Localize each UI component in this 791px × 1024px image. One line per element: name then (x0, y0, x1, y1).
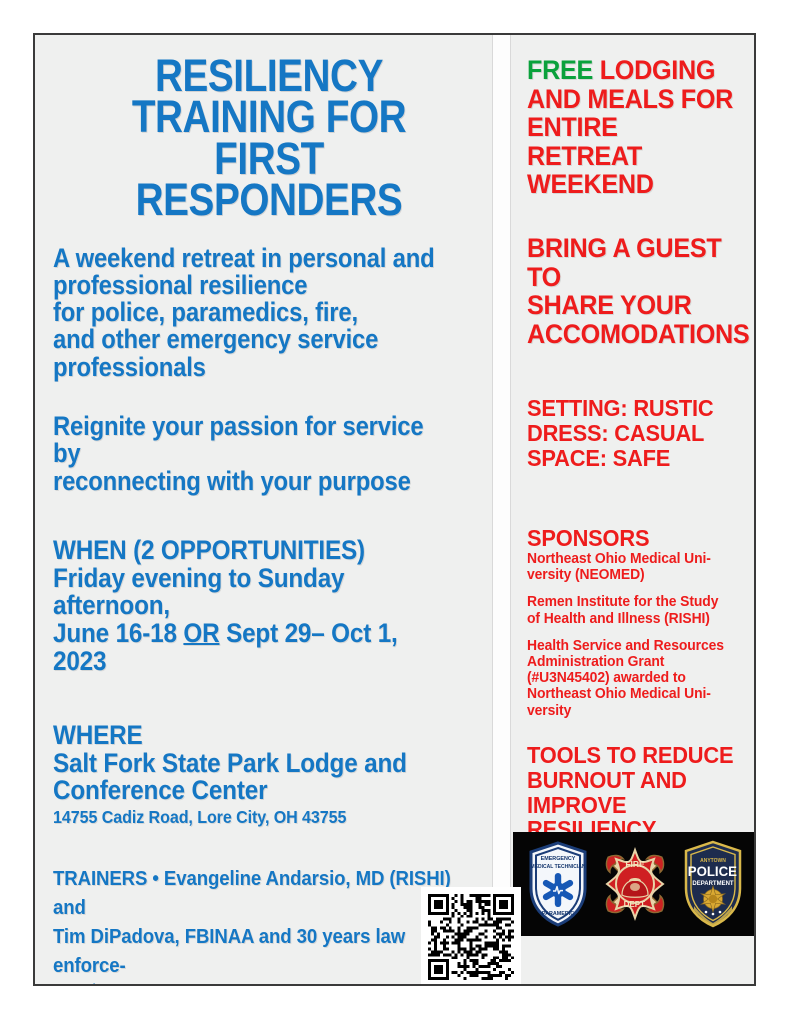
detail-space: SPACE: SAFE (527, 446, 737, 471)
lodging-word: LODGING (593, 55, 715, 85)
venue-address: 14755 Cadiz Road, Lore City, OH 43755 (53, 808, 450, 826)
sponsor-3-line-2: Administration Grant (527, 654, 739, 670)
detail-dress: DRESS: CASUAL (527, 421, 737, 446)
free-offer-block: FREE LODGING AND MEALS FOR ENTIRE RETREA… (527, 56, 737, 199)
column-divider (492, 35, 511, 984)
page-title: RESILIENCY TRAINING FOR FIRST RESPONDERS (83, 35, 455, 221)
when-or: OR (183, 618, 219, 648)
when-line-2: Friday evening to Sunday afternoon, (53, 565, 442, 621)
reignite-paragraph: Reignite your passion for service by rec… (53, 413, 442, 495)
trainers-line-1: TRAINERS • Evangeline Andarsio, MD (RISH… (53, 865, 455, 923)
poster-sheet: RESILIENCY TRAINING FOR FIRST RESPONDERS… (33, 33, 756, 986)
guest-line-3: ACCOMODATIONS (527, 320, 737, 349)
sponsor-3-line-1: Health Service and Resources (527, 638, 739, 654)
sponsor-1-line-1: Northeast Ohio Medical Uni- (527, 551, 739, 567)
bring-guest-block: BRING A GUEST TO SHARE YOUR ACCOMODATION… (527, 234, 737, 348)
svg-text:MEDICAL TECHNICIAN: MEDICAL TECHNICIAN (530, 864, 585, 870)
sponsor-1-line-2: versity (NEOMED) (527, 567, 739, 583)
svg-text:FIRE: FIRE (626, 859, 646, 869)
where-heading: WHERE (53, 722, 442, 750)
reignite-line-1: Reignite your passion for service by (53, 413, 442, 468)
when-dates-first: June 16-18 (53, 618, 183, 648)
sponsor-3-line-3: (#U3N45402) awarded to (527, 670, 739, 686)
trainers-section: TRAINERS • Evangeline Andarsio, MD (RISH… (53, 865, 455, 986)
free-offer-line-1: FREE LODGING (527, 56, 737, 85)
intro-line-3: for police, paramedics, fire, (53, 299, 442, 326)
free-offer-line-4: WEEKEND (527, 170, 737, 199)
intro-line-1: A weekend retreat in personal and (53, 245, 442, 272)
guest-line-1: BRING A GUEST TO (527, 234, 737, 291)
venue-line-1: Salt Fork State Park Lodge and (53, 750, 442, 778)
emt-paramedic-badge-icon: EMERGENCY MEDICAL TECHNICIAN PARAMEDIC (527, 841, 589, 927)
svg-text:POLICE: POLICE (688, 864, 737, 879)
police-department-badge-icon: ANYTOWN POLICE DEPARTMENT (682, 840, 744, 928)
detail-setting: SETTING: RUSTIC (527, 396, 737, 421)
first-responder-badges-image: EMERGENCY MEDICAL TECHNICIAN PARAMEDIC (513, 832, 756, 936)
tools-line-1: TOOLS TO REDUCE (527, 743, 737, 768)
svg-text:PARAMEDIC: PARAMEDIC (542, 911, 574, 917)
title-line-2: TRAINING FOR FIRST (83, 96, 455, 179)
qr-code[interactable] (421, 887, 521, 986)
when-heading: WHEN (2 OPPORTUNITIES) (53, 537, 442, 565)
intro-line-5: professionals (53, 354, 442, 381)
when-section: WHEN (2 OPPORTUNITIES) Friday evening to… (53, 537, 442, 676)
free-word: FREE (527, 55, 593, 85)
tools-block: TOOLS TO REDUCE BURNOUT AND IMPROVE RESI… (527, 743, 737, 842)
title-line-3: RESPONDERS (83, 179, 455, 220)
svg-text:DEPT.: DEPT. (624, 900, 647, 909)
tools-line-2: BURNOUT AND (527, 768, 737, 793)
trainers-line-2: Tim DiPadova, FBINAA and 30 years law en… (53, 923, 455, 981)
title-line-1: RESILIENCY (83, 55, 455, 96)
qr-code-canvas[interactable] (428, 894, 514, 980)
sponsor-3-line-5: versity (527, 703, 739, 719)
sponsor-2-line-2: of Health and Illness (RISHI) (527, 611, 739, 627)
intro-paragraph: A weekend retreat in personal and profes… (53, 245, 442, 381)
sponsor-3-line-4: Northeast Ohio Medical Uni- (527, 686, 739, 702)
intro-line-4: and other emergency service (53, 326, 442, 353)
reignite-line-2: reconnecting with your purpose (53, 468, 442, 495)
trainers-line-3: ment (53, 981, 455, 986)
sponsor-2-line-1: Remen Institute for the Study (527, 594, 739, 610)
free-offer-line-3: ENTIRE RETREAT (527, 113, 737, 170)
sponsor-item-neomed: Northeast Ohio Medical Uni- versity (NEO… (527, 551, 739, 583)
where-section: WHERE Salt Fork State Park Lodge and Con… (53, 722, 442, 805)
free-offer-line-2: AND MEALS FOR (527, 85, 737, 114)
fire-department-badge-icon: FIRE DEPT. (596, 844, 674, 924)
intro-line-2: professional resilience (53, 272, 442, 299)
sponsor-item-hrsa-grant: Health Service and Resources Administrat… (527, 638, 739, 719)
sponsor-item-rishi: Remen Institute for the Study of Health … (527, 594, 739, 626)
retreat-details-block: SETTING: RUSTIC DRESS: CASUAL SPACE: SAF… (527, 396, 737, 470)
guest-line-2: SHARE YOUR (527, 291, 737, 320)
left-column: RESILIENCY TRAINING FOR FIRST RESPONDERS… (35, 35, 497, 984)
venue-line-2: Conference Center (53, 777, 442, 805)
when-line-3: June 16-18 OR Sept 29– Oct 1, 2023 (53, 620, 442, 676)
svg-text:EMERGENCY: EMERGENCY (540, 856, 575, 862)
sponsors-heading: SPONSORS (527, 526, 737, 551)
